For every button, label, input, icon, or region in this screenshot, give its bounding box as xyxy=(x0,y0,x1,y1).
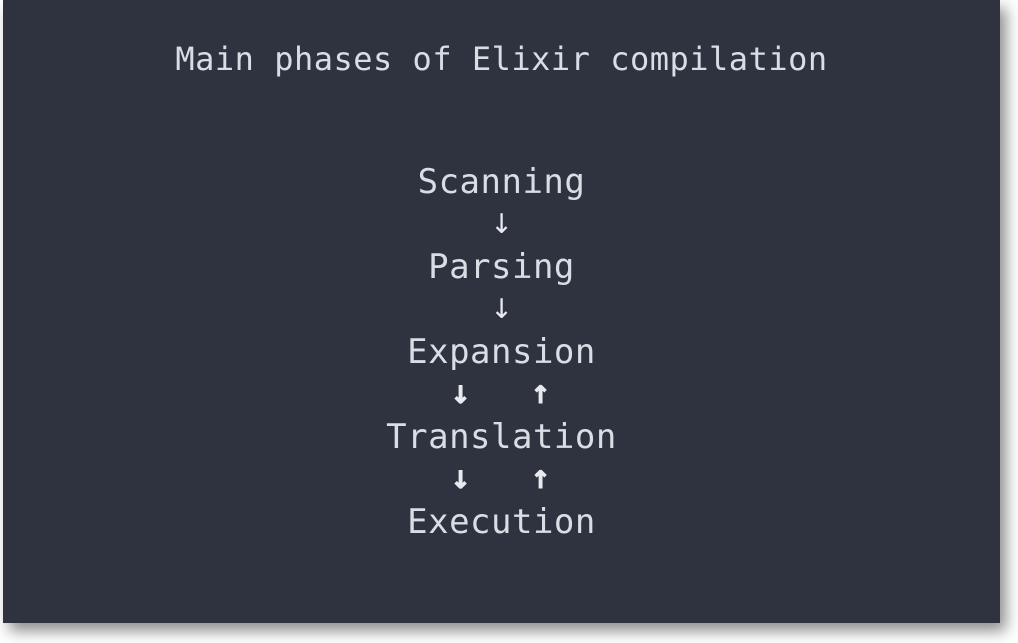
connector-parsing-expansion: ↓ xyxy=(392,289,612,330)
slide-frame: Main phases of Elixir compilation Scanni… xyxy=(3,0,1000,623)
connector-scanning-parsing: ↓ xyxy=(392,204,612,245)
phase-node-execution: Execution xyxy=(407,500,596,544)
phase-node-scanning: Scanning xyxy=(418,160,586,204)
arrow-up-icon: ↑ xyxy=(530,383,550,407)
connector-translation-execution: ↓ ↑ xyxy=(392,459,612,500)
arrow-down-icon: ↓ xyxy=(490,296,513,323)
arrow-down-icon: ↓ xyxy=(450,468,470,492)
arrow-down-icon: ↓ xyxy=(490,211,513,238)
phase-node-parsing: Parsing xyxy=(428,245,575,289)
page-title: Main phases of Elixir compilation xyxy=(3,40,1000,78)
connector-expansion-translation: ↓ ↑ xyxy=(392,374,612,415)
arrow-up-icon: ↑ xyxy=(530,468,550,492)
phase-node-translation: Translation xyxy=(386,415,617,459)
compilation-phase-flow: Scanning ↓ Parsing ↓ Expansion ↓ ↑ Trans… xyxy=(3,160,1000,544)
arrow-down-icon: ↓ xyxy=(450,383,470,407)
phase-node-expansion: Expansion xyxy=(407,330,596,374)
